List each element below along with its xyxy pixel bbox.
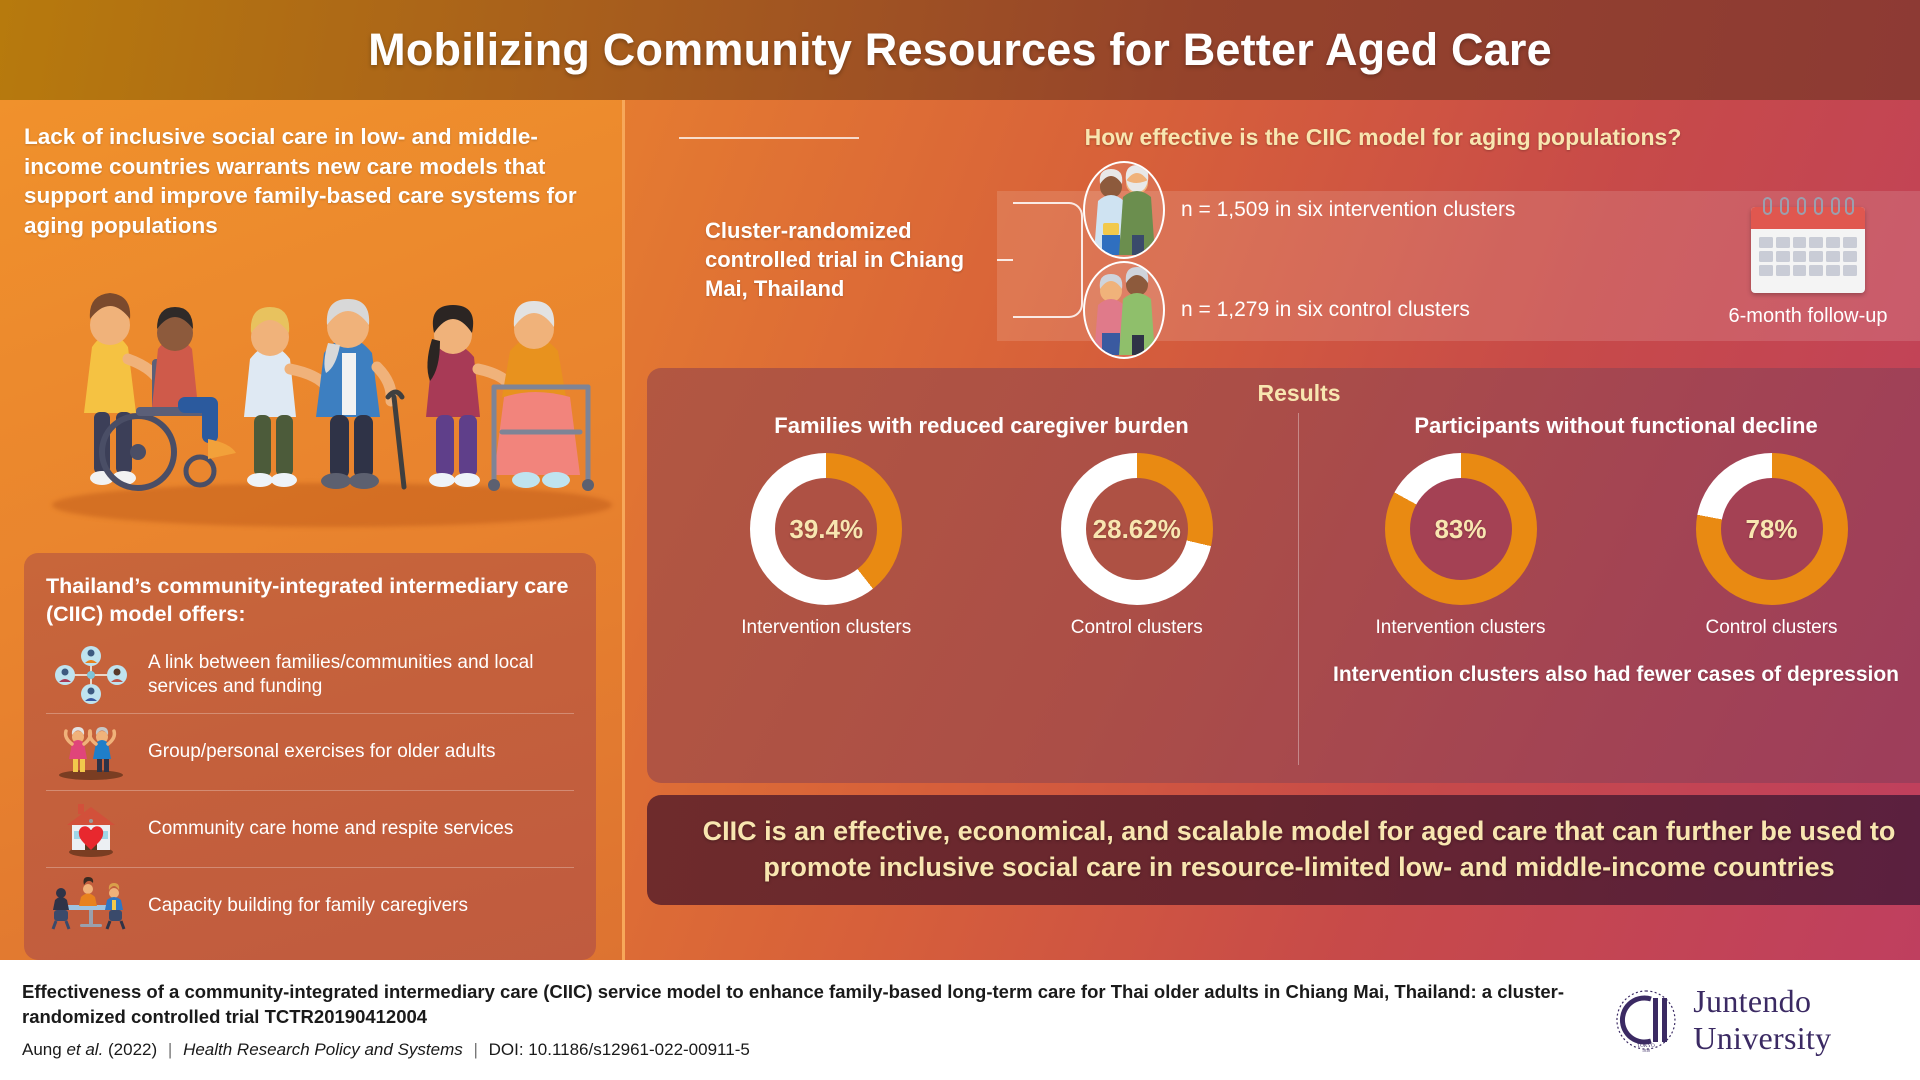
donut-chart: 39.4% Intervention clusters xyxy=(701,449,951,639)
question-row: How effective is the CIIC model for agin… xyxy=(647,116,1920,155)
donut-caption: Control clusters xyxy=(1012,617,1262,639)
list-item: Community care home and respite services xyxy=(46,790,574,867)
poster-header: Mobilizing Community Resources for Bette… xyxy=(0,0,1920,100)
ciic-model-card: Thailand’s community-integrated intermed… xyxy=(24,553,596,960)
donut-value: 83% xyxy=(1434,514,1486,545)
results-column-caregiver-burden: Families with reduced caregiver burden 3… xyxy=(665,413,1299,765)
results-title: Results xyxy=(665,380,1920,407)
question-rule xyxy=(679,137,859,139)
doi: DOI: 10.1186/s12961-022-00911-5 xyxy=(489,1040,750,1059)
arm-text: n = 1,279 in six control clusters xyxy=(1181,298,1470,322)
arm-text: n = 1,509 in six intervention clusters xyxy=(1181,198,1515,222)
left-panel: Lack of inclusive social care in low- an… xyxy=(0,100,625,960)
depression-note: Intervention clusters also had fewer cas… xyxy=(1305,661,1920,688)
donut-value: 78% xyxy=(1745,514,1797,545)
followup-block: 6-month follow-up xyxy=(1703,191,1913,328)
ciic-card-title: Thailand’s community-integrated intermed… xyxy=(46,573,574,629)
donut-row: 83% Intervention clusters 78% xyxy=(1305,449,1920,639)
journal-name: Health Research Policy and Systems xyxy=(183,1040,463,1059)
donut-value: 39.4% xyxy=(789,514,863,545)
donut-hole: 78% xyxy=(1721,478,1823,580)
two-older-adults-avatar xyxy=(1083,161,1165,259)
donut-hole: 83% xyxy=(1410,478,1512,580)
donut-ring: 39.4% xyxy=(750,453,902,605)
brand-block: TOKYO 1838 Juntendo University xyxy=(1611,983,1894,1057)
older-adults-and-caregivers-illustration xyxy=(24,247,596,547)
citation-authors: Aung et al. (2022) xyxy=(22,1040,157,1059)
donut-ring: 28.62% xyxy=(1061,453,1213,605)
donut-ring: 78% xyxy=(1696,453,1848,605)
care-home-with-heart-icon xyxy=(48,800,134,858)
results-column-title: Families with reduced caregiver burden xyxy=(671,413,1292,439)
trial-arms: n = 1,509 in six intervention clusters xyxy=(1083,160,1703,360)
results-panel: Results Families with reduced caregiver … xyxy=(647,368,1920,783)
donut-caption: Intervention clusters xyxy=(701,617,951,639)
list-item: Group/personal exercises for older adult… xyxy=(46,713,574,790)
list-item-label: Capacity building for family caregivers xyxy=(148,894,468,918)
ciic-offer-list: A link between families/communities and … xyxy=(46,637,574,944)
citation-separator: | xyxy=(467,1040,483,1059)
results-column-title: Participants without functional decline xyxy=(1305,413,1920,439)
page-title: Mobilizing Community Resources for Bette… xyxy=(368,24,1552,76)
donut-value: 28.62% xyxy=(1093,514,1181,545)
poster-body: Lack of inclusive social care in low- an… xyxy=(0,100,1920,960)
donut-chart: 83% Intervention clusters xyxy=(1336,449,1586,639)
svg-text:1838: 1838 xyxy=(1642,1048,1650,1053)
citation-block: Effectiveness of a community-integrated … xyxy=(22,980,1611,1060)
juntendo-university-logo: TOKYO 1838 xyxy=(1611,985,1681,1055)
right-panel: How effective is the CIIC model for agin… xyxy=(625,100,1920,960)
conclusion-text: CIIC is an effective, economical, and sc… xyxy=(677,813,1920,885)
citation-meta: Aung et al. (2022) | Health Research Pol… xyxy=(22,1040,1611,1060)
donut-chart: 78% Control clusters xyxy=(1647,449,1897,639)
lead-statement: Lack of inclusive social care in low- an… xyxy=(24,122,596,241)
brand-name: Juntendo University xyxy=(1693,983,1894,1057)
poster-footer: Effectiveness of a community-integrated … xyxy=(0,960,1920,1080)
results-columns: Families with reduced caregiver burden 3… xyxy=(665,413,1920,765)
study-design-section: Cluster-randomized controlled trial in C… xyxy=(647,157,1920,362)
donut-caption: Control clusters xyxy=(1647,617,1897,639)
design-bracket xyxy=(1013,202,1083,318)
donut-hole: 39.4% xyxy=(775,478,877,580)
donut-hole: 28.62% xyxy=(1086,478,1188,580)
list-item: A link between families/communities and … xyxy=(46,637,574,713)
list-item-label: Community care home and respite services xyxy=(148,817,513,841)
results-column-functional-decline: Participants without functional decline … xyxy=(1299,413,1920,765)
trial-arm-intervention: n = 1,509 in six intervention clusters xyxy=(1083,160,1703,260)
donut-row: 39.4% Intervention clusters 28.62% xyxy=(671,449,1292,639)
list-item: Capacity building for family caregivers xyxy=(46,867,574,944)
followup-label: 6-month follow-up xyxy=(1703,305,1913,328)
study-design-label: Cluster-randomized controlled trial in C… xyxy=(705,216,1005,303)
infographic-poster: Mobilizing Community Resources for Bette… xyxy=(0,0,1920,1080)
people-group-svg xyxy=(32,247,632,537)
list-item-label: A link between families/communities and … xyxy=(148,651,574,699)
donut-ring: 83% xyxy=(1385,453,1537,605)
conclusion-banner: CIIC is an effective, economical, and sc… xyxy=(647,795,1920,905)
research-question: How effective is the CIIC model for agin… xyxy=(875,124,1891,151)
article-title: Effectiveness of a community-integrated … xyxy=(22,980,1611,1030)
trial-arm-control: n = 1,279 in six control clusters xyxy=(1083,260,1703,360)
exercising-older-adults-icon xyxy=(48,723,134,781)
network-of-people-icon xyxy=(48,646,134,704)
donut-caption: Intervention clusters xyxy=(1336,617,1586,639)
citation-separator: | xyxy=(162,1040,178,1059)
donut-chart: 28.62% Control clusters xyxy=(1012,449,1262,639)
training-meeting-icon xyxy=(48,877,134,935)
calendar-icon xyxy=(1745,191,1871,295)
two-older-adults-avatar xyxy=(1083,261,1165,359)
list-item-label: Group/personal exercises for older adult… xyxy=(148,740,495,764)
